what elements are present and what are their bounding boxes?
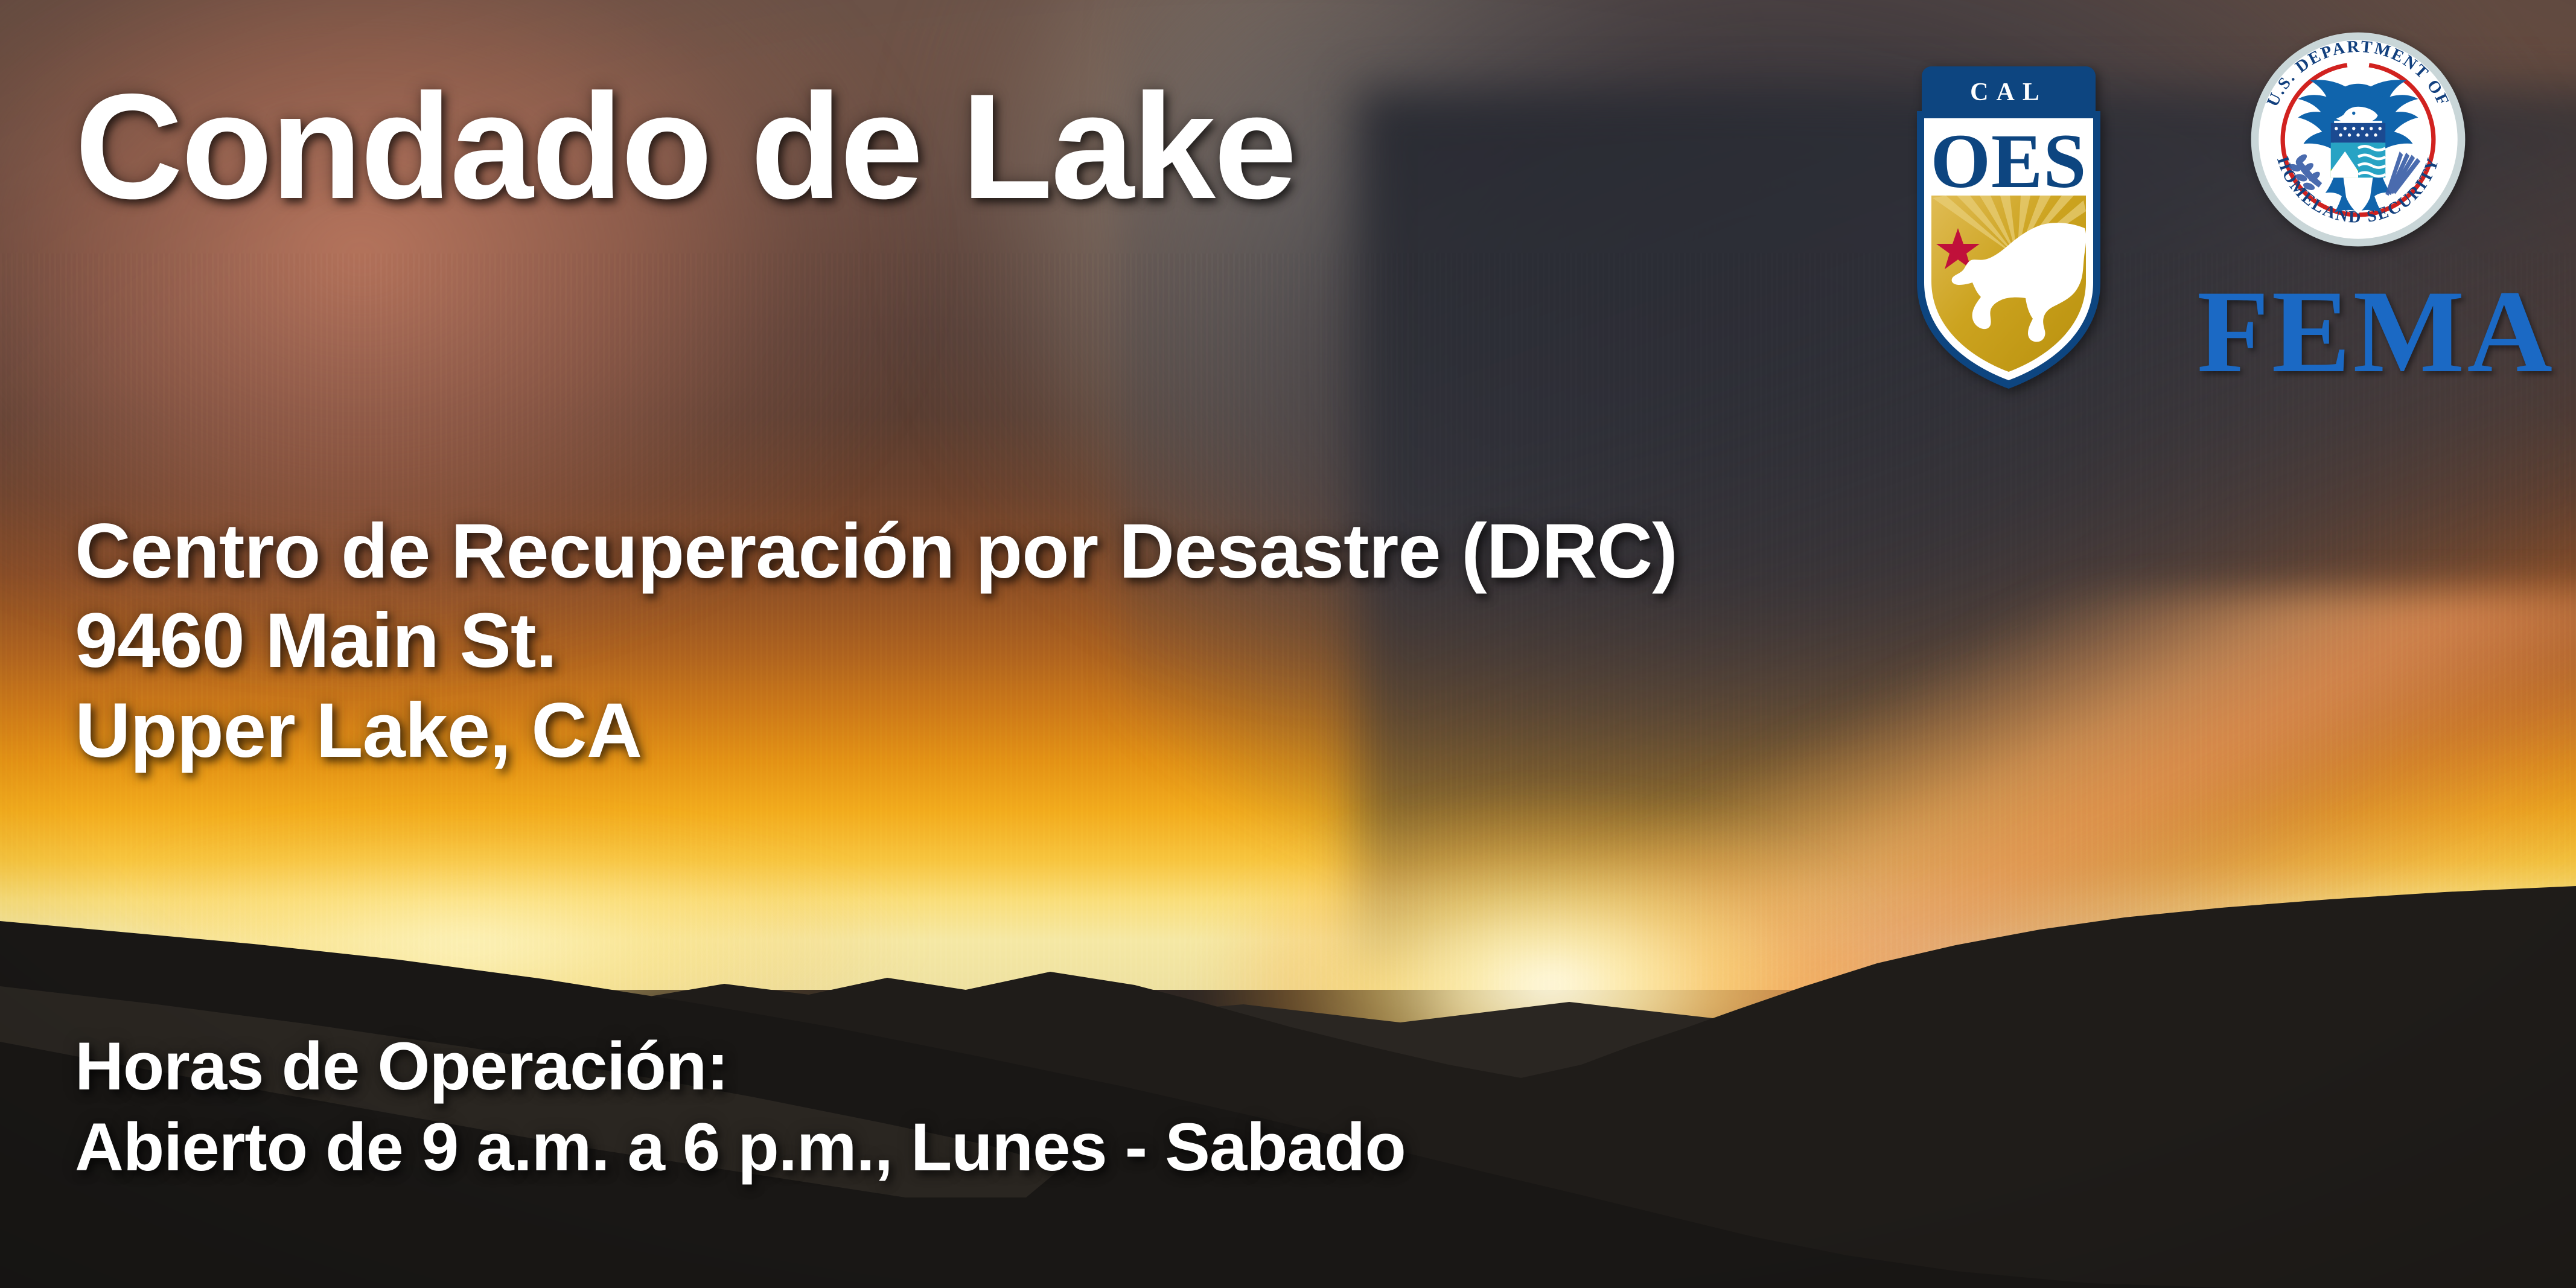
seal-shield [2331, 123, 2386, 178]
fema-wordmark: FEMA [2197, 273, 2555, 391]
facility-address-block: Centro de Recuperación por Desastre (DRC… [75, 507, 1677, 776]
hours-value: Abierto de 9 a.m. a 6 p.m., Lunes - Saba… [75, 1107, 1406, 1188]
cal-banner-text: CAL [1970, 78, 2047, 106]
facility-city-state: Upper Lake, CA [75, 686, 1677, 776]
hours-label: Horas de Operación: [75, 1026, 1406, 1107]
page-title: Condado de Lake [75, 71, 1295, 221]
hours-of-operation-block: Horas de Operación: Abierto de 9 a.m. a … [75, 1026, 1406, 1188]
disaster-recovery-center-poster: Condado de Lake Centro de Recuperación p… [0, 0, 2576, 1288]
oes-wordmark: OES [1930, 118, 2087, 204]
dhs-seal-logo: U.S. DEPARTMENT OF HOMELAND SECURITY [2249, 30, 2467, 249]
facility-street: 9460 Main St. [75, 596, 1677, 686]
facility-name: Centro de Recuperación por Desastre (DRC… [75, 507, 1677, 596]
cal-oes-logo: CAL OES [1914, 58, 2103, 396]
